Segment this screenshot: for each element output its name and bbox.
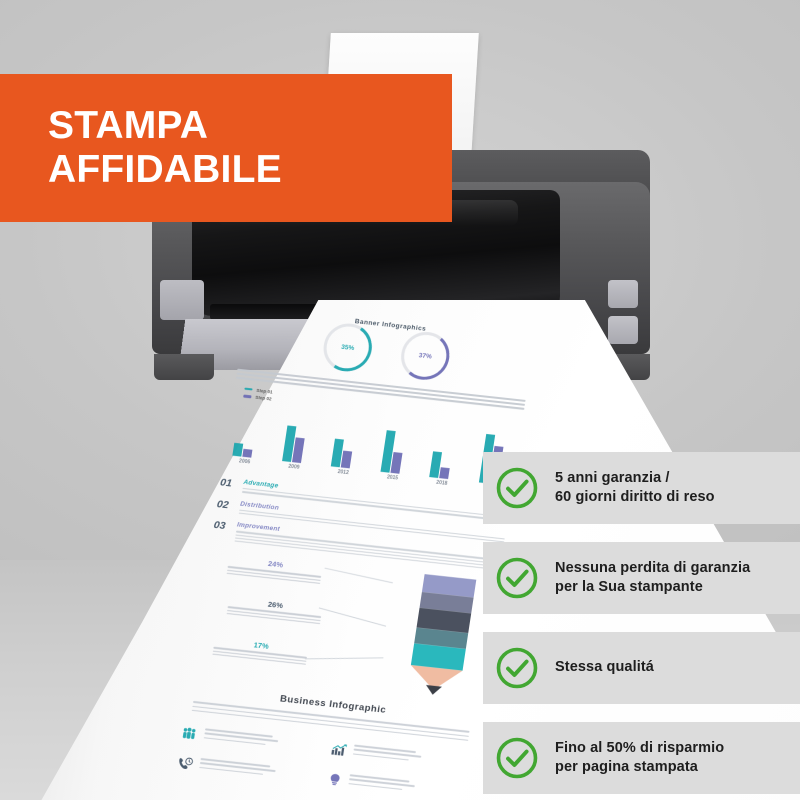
feature-label: Stessa qualitá bbox=[555, 658, 654, 677]
step-number: 03 bbox=[213, 519, 231, 533]
bar-step02 bbox=[341, 451, 352, 469]
legend-swatch bbox=[243, 395, 251, 398]
page-title: STAMPA AFFIDABILE bbox=[48, 104, 282, 191]
step-number: 02 bbox=[216, 498, 234, 512]
intro-paragraph-text: Lorem ipsum dolor sit amet, consectetur … bbox=[235, 381, 236, 382]
feature-label: 5 anni garanzia / 60 giorni diritto di r… bbox=[555, 469, 715, 507]
feature-item-warranty[interactable]: 5 anni garanzia / 60 giorni diritto di r… bbox=[483, 452, 800, 524]
bar-step02 bbox=[390, 452, 402, 474]
legend-label: Step 01 bbox=[256, 387, 273, 394]
headline-banner: STAMPA AFFIDABILE bbox=[0, 74, 452, 222]
leader-line bbox=[325, 568, 393, 584]
icon-cell-text-lines: Lorem ipsum dolor sit amet, consectetur … bbox=[352, 745, 421, 765]
feature-label: Nessuna perdita di garanzia per la Sua s… bbox=[555, 559, 750, 597]
legend-label: Step 02 bbox=[255, 395, 272, 402]
check-circle-icon bbox=[495, 736, 539, 780]
printer-right-button-1[interactable] bbox=[608, 280, 638, 308]
pencil-stat-caption: Lorem ipsum dolor sit amet, consectetur … bbox=[273, 621, 274, 622]
printer-left-button[interactable] bbox=[160, 280, 204, 320]
printer-right-button-2[interactable] bbox=[608, 316, 638, 344]
bar-group bbox=[278, 409, 320, 464]
x-tick-label: 2018 bbox=[424, 479, 459, 489]
lightbulb-icon bbox=[326, 772, 344, 788]
bar-step02 bbox=[439, 467, 450, 479]
feature-label: Fino al 50% di risparmio per pagina stam… bbox=[555, 739, 724, 777]
printer-foot-left bbox=[154, 354, 214, 380]
people-group-icon bbox=[181, 726, 199, 742]
donut-value: 37% bbox=[398, 330, 453, 383]
feature-item-no-warranty-loss[interactable]: Nessuna perdita di garanzia per la Sua s… bbox=[483, 542, 800, 614]
icon-cell-text: Lorem ipsum dolor sit amet, consectetur … bbox=[348, 787, 349, 788]
icon-cell-text-lines: Lorem ipsum dolor sit amet, consectetur … bbox=[348, 774, 415, 794]
check-circle-icon bbox=[495, 556, 539, 600]
bar-group bbox=[376, 420, 418, 475]
feature-list: 5 anni garanzia / 60 giorni diritto di r… bbox=[483, 452, 800, 800]
donut-value: 35% bbox=[320, 321, 375, 374]
pencil-graphic bbox=[407, 575, 476, 697]
phone-clock-icon bbox=[177, 756, 195, 772]
icon-cell-text: Lorem ipsum dolor sit amet, consectetur … bbox=[199, 771, 200, 772]
pencil-stat-1: 24% Lorem ipsum dolor sit amet, consecte… bbox=[214, 554, 334, 587]
poster-canvas: Banner Infographics 35% 37% Lorem ipsum … bbox=[0, 0, 800, 800]
bar-group bbox=[228, 404, 270, 459]
growth-chart-icon bbox=[330, 742, 348, 758]
donut-chart-2: 37% bbox=[399, 340, 451, 371]
icon-cell-text-lines: Lorem ipsum dolor sit amet, consectetur … bbox=[203, 728, 278, 748]
bar-step02 bbox=[242, 448, 252, 457]
icon-cell-text: Lorem ipsum dolor sit amet, consectetur … bbox=[203, 741, 204, 742]
bar-group bbox=[426, 425, 468, 480]
step-number: 01 bbox=[219, 477, 237, 491]
check-circle-icon bbox=[495, 466, 539, 510]
feature-item-same-quality[interactable]: Stessa qualitá bbox=[483, 632, 800, 704]
pencil-lead-tip bbox=[425, 685, 442, 696]
pencil-stat-2: 26% Lorem ipsum dolor sit amet, consecte… bbox=[214, 594, 334, 627]
donut-chart-1: 35% bbox=[322, 332, 374, 363]
x-tick-label: 2012 bbox=[326, 468, 361, 478]
bar-group bbox=[327, 415, 369, 470]
feature-item-savings[interactable]: Fino al 50% di risparmio per pagina stam… bbox=[483, 722, 800, 794]
pencil-stat-caption: Lorem ipsum dolor sit amet, consectetur … bbox=[259, 662, 260, 663]
business-paragraph-text: Lorem ipsum dolor sit amet, consectetur … bbox=[185, 713, 186, 714]
pencil-stat-caption: Lorem ipsum dolor sit amet, consectetur … bbox=[273, 581, 274, 582]
x-tick-label: 2015 bbox=[375, 473, 410, 483]
icon-cell: Lorem ipsum dolor sit amet, consectetur … bbox=[181, 726, 322, 755]
legend-swatch bbox=[244, 387, 252, 390]
x-tick-label: 2006 bbox=[227, 457, 262, 467]
check-circle-icon bbox=[495, 646, 539, 690]
pencil-infographic: 24% Lorem ipsum dolor sit amet, consecte… bbox=[192, 551, 498, 701]
x-tick-label: 2009 bbox=[276, 463, 311, 473]
pencil-stat-3: 17% Lorem ipsum dolor sit amet, consecte… bbox=[200, 635, 320, 668]
icon-cell: Lorem ipsum dolor sit amet, consectetur … bbox=[330, 742, 471, 771]
icon-cell-text: Lorem ipsum dolor sit amet, consectetur … bbox=[352, 757, 353, 758]
